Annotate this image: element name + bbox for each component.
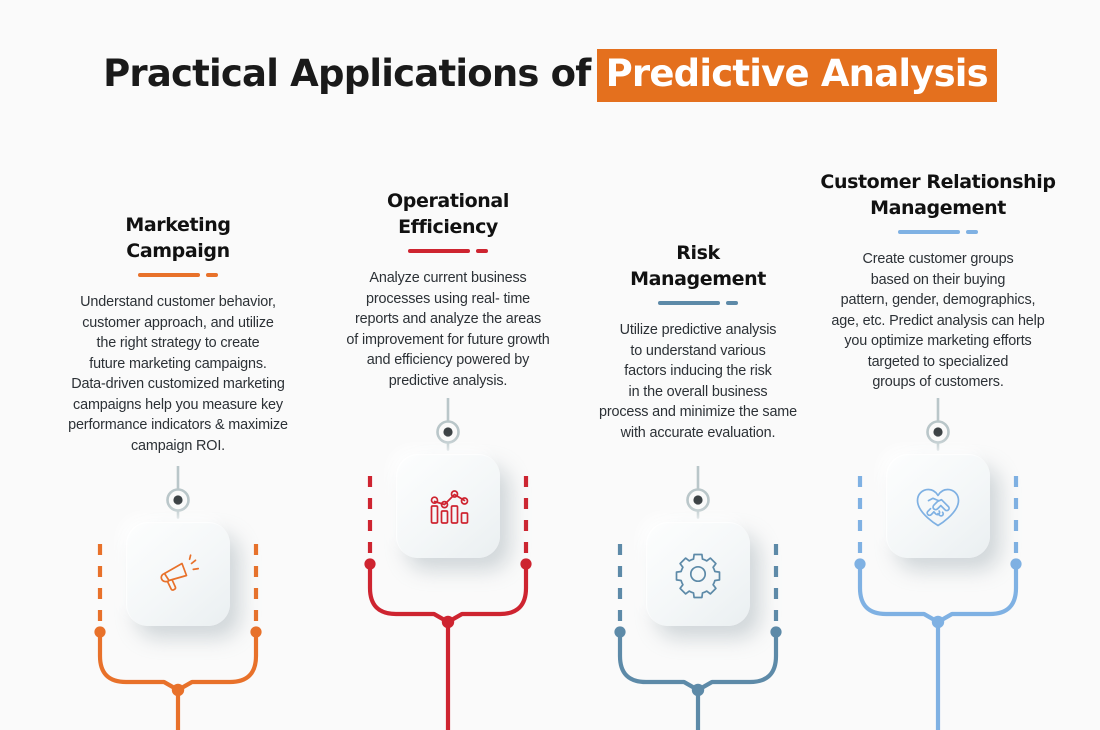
- icon-card-risk-management[interactable]: [646, 522, 750, 626]
- column-body-text: Create customer groups based on their bu…: [808, 249, 1068, 393]
- column-divider: [655, 301, 741, 305]
- column-text-marketing-campaign: Marketing CampaignUnderstand customer be…: [28, 212, 328, 456]
- gear-icon: [670, 546, 726, 602]
- icon-card-operational-efficiency[interactable]: [396, 454, 500, 558]
- divider-segment-short: [206, 273, 218, 277]
- divider-segment-long: [658, 301, 720, 305]
- divider-segment-long: [408, 249, 470, 253]
- column-heading: Operational Efficiency: [321, 188, 575, 240]
- icon-card-marketing-campaign[interactable]: [126, 522, 230, 626]
- handshake-heart-icon: [909, 477, 967, 535]
- column-heading: Risk Management: [573, 240, 823, 292]
- column-connector-customer-relationship-management: [838, 398, 1038, 730]
- divider-segment-short: [966, 230, 978, 234]
- column-divider: [405, 249, 491, 253]
- column-text-customer-relationship-management: Customer Relationship ManagementCreate c…: [808, 169, 1068, 393]
- column-heading: Customer Relationship Management: [808, 169, 1068, 221]
- column-text-risk-management: Risk ManagementUtilize predictive analys…: [573, 240, 823, 443]
- column-divider: [135, 273, 221, 277]
- column-body-text: Analyze current business processes using…: [321, 268, 575, 391]
- divider-segment-long: [898, 230, 960, 234]
- infographic-canvas: Practical Applications ofPredictive Anal…: [0, 0, 1100, 730]
- divider-segment-short: [476, 249, 488, 253]
- column-heading: Marketing Campaign: [28, 212, 328, 264]
- column-divider: [895, 230, 981, 234]
- megaphone-icon: [150, 546, 206, 602]
- column-text-operational-efficiency: Operational EfficiencyAnalyze current bu…: [321, 188, 575, 391]
- divider-segment-long: [138, 273, 200, 277]
- divider-segment-short: [726, 301, 738, 305]
- column-body-text: Understand customer behavior, customer a…: [28, 292, 328, 456]
- column-body-text: Utilize predictive analysis to understan…: [573, 320, 823, 443]
- icon-card-customer-relationship-management[interactable]: [886, 454, 990, 558]
- column-connector-operational-efficiency: [348, 398, 548, 730]
- bar-chart-icon: [420, 478, 476, 534]
